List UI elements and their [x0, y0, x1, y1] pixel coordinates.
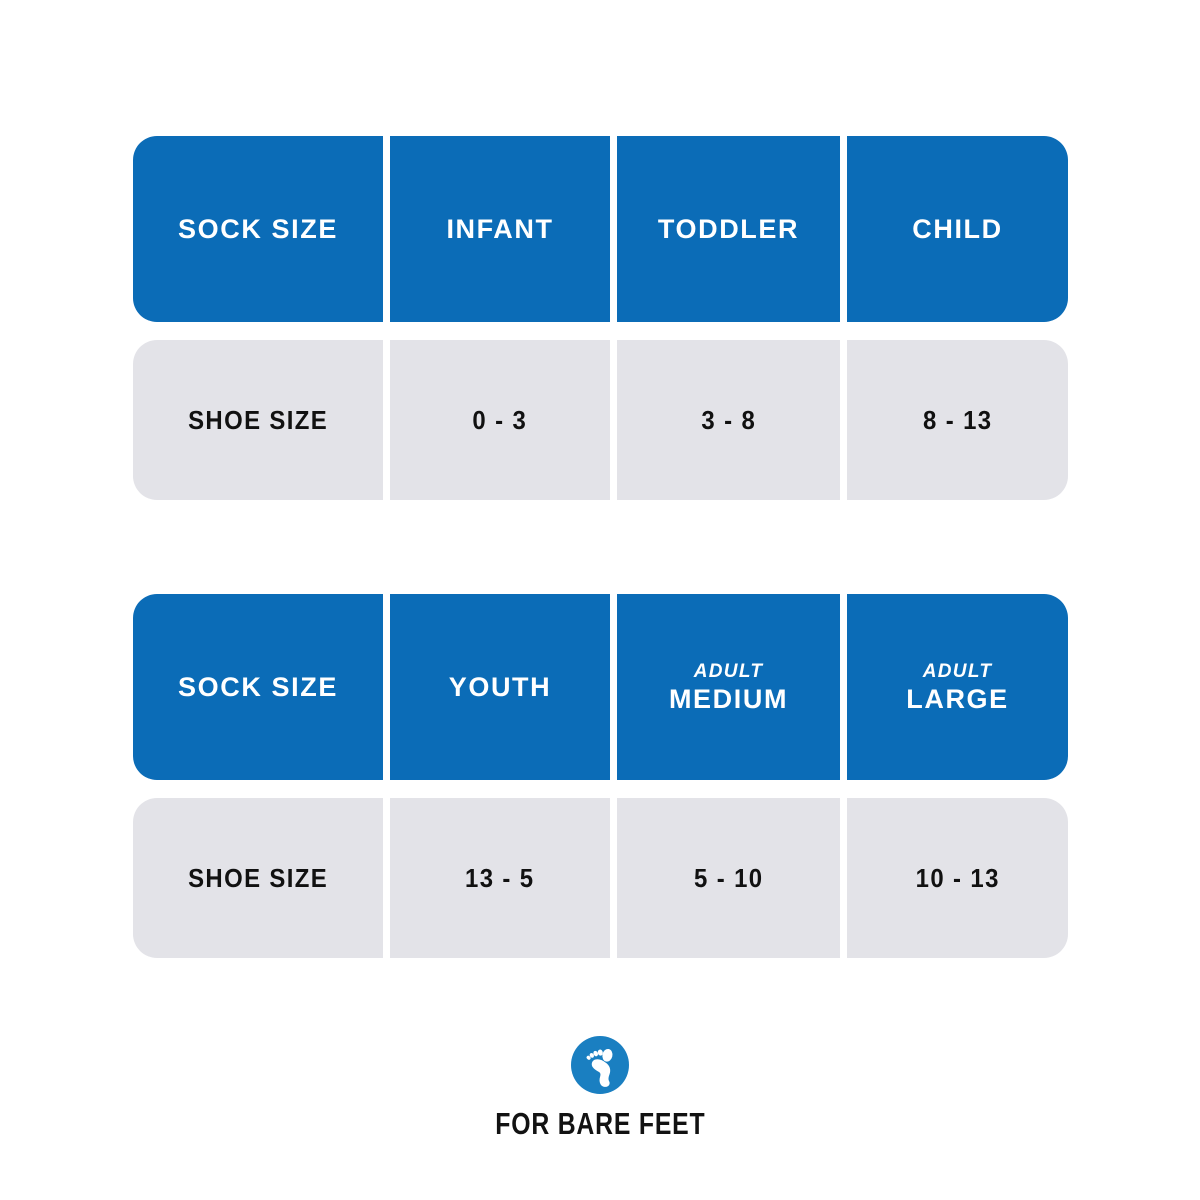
table-data-row: SHOE SIZE 13 - 5 5 - 10 10 - 13 — [133, 798, 1068, 958]
data-cell-infant-shoe-size: 0 - 3 — [390, 340, 610, 500]
data-cell-shoe-size-label: SHOE SIZE — [133, 798, 383, 958]
header-label: TODDLER — [658, 215, 799, 243]
data-value: 5 - 10 — [694, 865, 763, 891]
header-label: SOCK SIZE — [178, 673, 338, 701]
data-value: 10 - 13 — [915, 865, 999, 891]
header-label: YOUTH — [449, 673, 552, 701]
size-table-youth-adult: SOCK SIZE YOUTH ADULT MEDIUM ADULT LARGE… — [133, 594, 1068, 958]
header-label: MEDIUM — [669, 685, 788, 713]
header-cell-sock-size: SOCK SIZE — [133, 136, 383, 322]
header-label: CHILD — [912, 215, 1003, 243]
header-eyebrow: ADULT — [694, 661, 763, 683]
header-label: LARGE — [906, 685, 1009, 713]
data-value: 0 - 3 — [473, 407, 528, 433]
data-cell-adult-large-shoe-size: 10 - 13 — [847, 798, 1068, 958]
size-chart-canvas: SOCK SIZE INFANT TODDLER CHILD SHOE SIZE… — [0, 0, 1200, 1200]
header-cell-toddler: TODDLER — [617, 136, 840, 322]
brand-name: FOR BARE FEET — [495, 1108, 705, 1139]
table-header-row: SOCK SIZE YOUTH ADULT MEDIUM ADULT LARGE — [133, 594, 1068, 780]
table-header-row: SOCK SIZE INFANT TODDLER CHILD — [133, 136, 1068, 322]
brand-logo: FOR BARE FEET — [0, 1036, 1200, 1139]
size-table-infant-child: SOCK SIZE INFANT TODDLER CHILD SHOE SIZE… — [133, 136, 1068, 500]
data-value: 13 - 5 — [465, 865, 534, 891]
header-cell-child: CHILD — [847, 136, 1068, 322]
data-cell-adult-medium-shoe-size: 5 - 10 — [617, 798, 840, 958]
header-label: INFANT — [446, 215, 553, 243]
header-cell-youth: YOUTH — [390, 594, 610, 780]
header-cell-infant: INFANT — [390, 136, 610, 322]
data-value: 3 - 8 — [701, 407, 756, 433]
header-label: SOCK SIZE — [178, 215, 338, 243]
header-cell-sock-size: SOCK SIZE — [133, 594, 383, 780]
table-data-row: SHOE SIZE 0 - 3 3 - 8 8 - 13 — [133, 340, 1068, 500]
header-cell-adult-medium: ADULT MEDIUM — [617, 594, 840, 780]
data-cell-shoe-size-label: SHOE SIZE — [133, 340, 383, 500]
data-row-label: SHOE SIZE — [188, 865, 328, 891]
data-cell-child-shoe-size: 8 - 13 — [847, 340, 1068, 500]
data-value: 8 - 13 — [923, 407, 992, 433]
data-row-label: SHOE SIZE — [188, 407, 328, 433]
header-cell-adult-large: ADULT LARGE — [847, 594, 1068, 780]
header-eyebrow: ADULT — [923, 661, 992, 683]
data-cell-youth-shoe-size: 13 - 5 — [390, 798, 610, 958]
footprint-icon — [571, 1036, 629, 1094]
data-cell-toddler-shoe-size: 3 - 8 — [617, 340, 840, 500]
